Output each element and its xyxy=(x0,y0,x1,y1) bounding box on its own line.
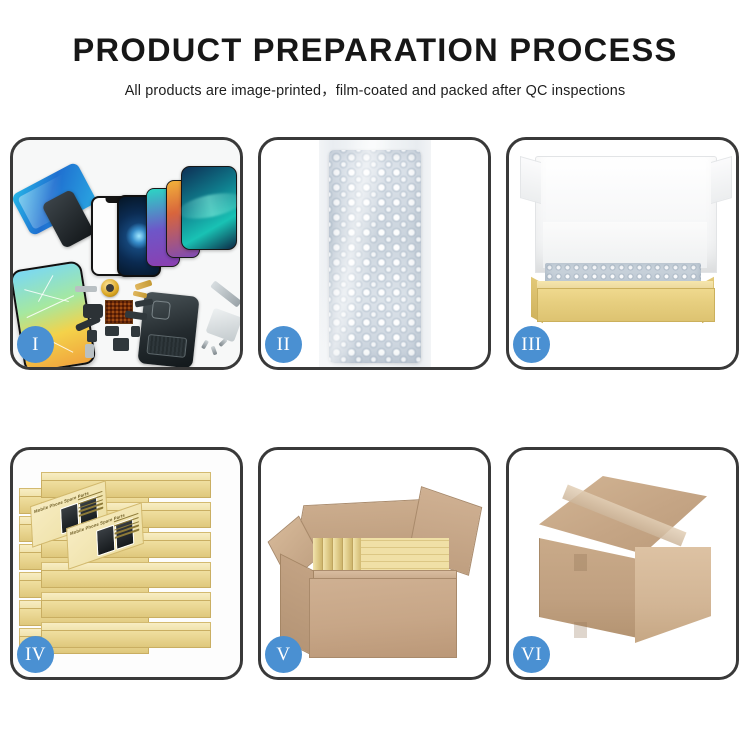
process-step-panel-2: II xyxy=(258,137,491,370)
foam-insert xyxy=(543,222,707,268)
step-badge-1: I xyxy=(17,326,54,363)
bubble-wrap-surface xyxy=(329,150,421,363)
carton-front-face xyxy=(309,578,457,658)
small-part xyxy=(105,326,119,336)
process-step-panel-1: I xyxy=(10,137,243,370)
screen-teal xyxy=(181,166,237,250)
step-badge-3: III xyxy=(513,326,550,363)
carton-seam xyxy=(574,554,587,571)
gold-coil-part xyxy=(101,279,119,297)
process-step-panel-5: V xyxy=(258,447,491,680)
process-step-panel-3: III xyxy=(506,137,739,370)
process-step-panel-6: VI xyxy=(506,447,739,680)
page-title: PRODUCT PREPARATION PROCESS xyxy=(0,34,750,66)
small-part xyxy=(131,326,140,337)
process-step-panel-4: Mobile Phone Spare Parts Mobile Phone Sp… xyxy=(10,447,243,680)
small-part xyxy=(113,338,129,351)
carton-seam xyxy=(574,622,587,638)
small-part xyxy=(87,330,97,342)
step-badge-4: IV xyxy=(17,636,54,673)
page-subtitle: All products are image-printed，film-coat… xyxy=(0,79,750,100)
small-part xyxy=(85,344,94,358)
process-step-grid: I II III xyxy=(10,137,740,680)
step-badge-6: VI xyxy=(513,636,550,673)
step-badge-2: II xyxy=(265,326,302,363)
page-header: PRODUCT PREPARATION PROCESS All products… xyxy=(0,0,750,100)
small-part xyxy=(75,286,97,292)
small-part xyxy=(83,304,103,318)
box-tray-front xyxy=(537,288,715,322)
step-badge-5: V xyxy=(265,636,302,673)
